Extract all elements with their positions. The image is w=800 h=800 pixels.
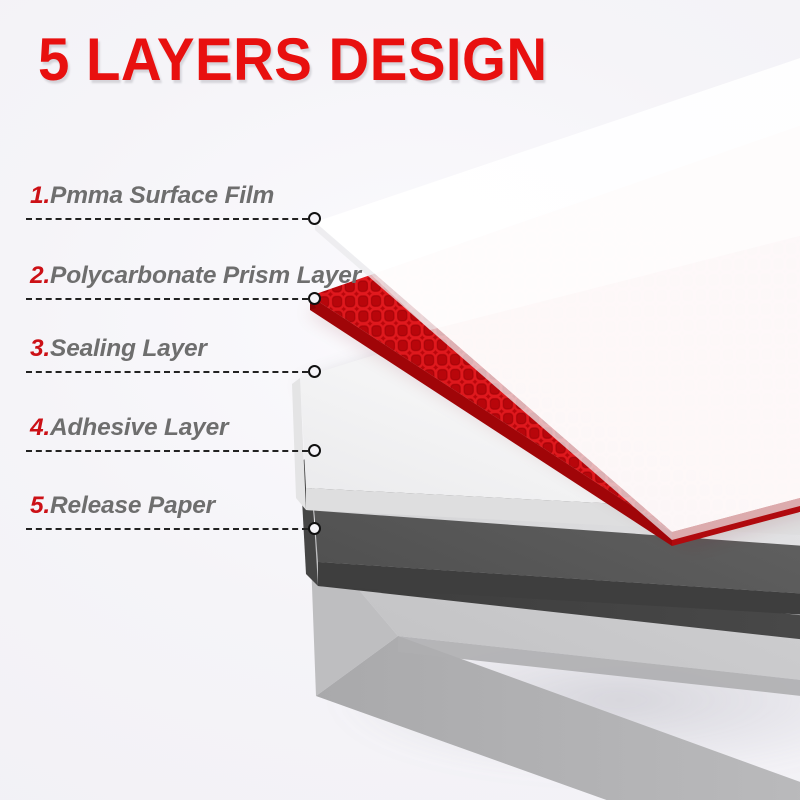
callout-layer-2-label: Polycarbonate Prism Layer [50, 262, 361, 289]
callout-dot-icon-1[interactable] [308, 212, 321, 225]
callout-layer-1-label: Pmma Surface Film [50, 182, 274, 209]
diagram-canvas: 5 LAYERS DESIGN [0, 0, 800, 800]
callout-layer-5[interactable]: 5.Release Paper [26, 492, 215, 520]
callout-dot-icon-3[interactable] [308, 365, 321, 378]
callout-layer-2-text: 2.Polycarbonate Prism Layer [26, 262, 361, 290]
leader-line-icon-5 [26, 528, 308, 530]
callout-layer-4-label: Adhesive Layer [50, 414, 228, 441]
leader-line-icon-3 [26, 371, 308, 373]
callout-layer-5-text: 5.Release Paper [26, 492, 215, 520]
layer-stack-illustration [0, 0, 800, 800]
callout-layer-1-number: 1. [30, 182, 50, 209]
callout-layer-1[interactable]: 1.Pmma Surface Film [26, 182, 274, 210]
callout-layer-2[interactable]: 2.Polycarbonate Prism Layer [26, 262, 361, 290]
callout-layer-5-label: Release Paper [50, 492, 215, 519]
callout-layer-3-label: Sealing Layer [50, 335, 207, 362]
callout-layer-4-text: 4.Adhesive Layer [26, 414, 228, 442]
callout-dot-icon-5[interactable] [308, 522, 321, 535]
callout-layer-1-text: 1.Pmma Surface Film [26, 182, 274, 210]
callout-layer-3[interactable]: 3.Sealing Layer [26, 335, 207, 363]
callout-layer-2-number: 2. [30, 262, 50, 289]
leader-line-icon-4 [26, 450, 308, 452]
callout-layer-4-number: 4. [30, 414, 50, 441]
callout-layer-3-number: 3. [30, 335, 50, 362]
callout-layer-3-text: 3.Sealing Layer [26, 335, 207, 363]
callout-dot-icon-4[interactable] [308, 444, 321, 457]
leader-line-icon-1 [26, 218, 308, 220]
callout-layer-5-number: 5. [30, 492, 50, 519]
callout-dot-icon-2[interactable] [308, 292, 321, 305]
leader-line-icon-2 [26, 298, 308, 300]
callout-layer-4[interactable]: 4.Adhesive Layer [26, 414, 228, 442]
